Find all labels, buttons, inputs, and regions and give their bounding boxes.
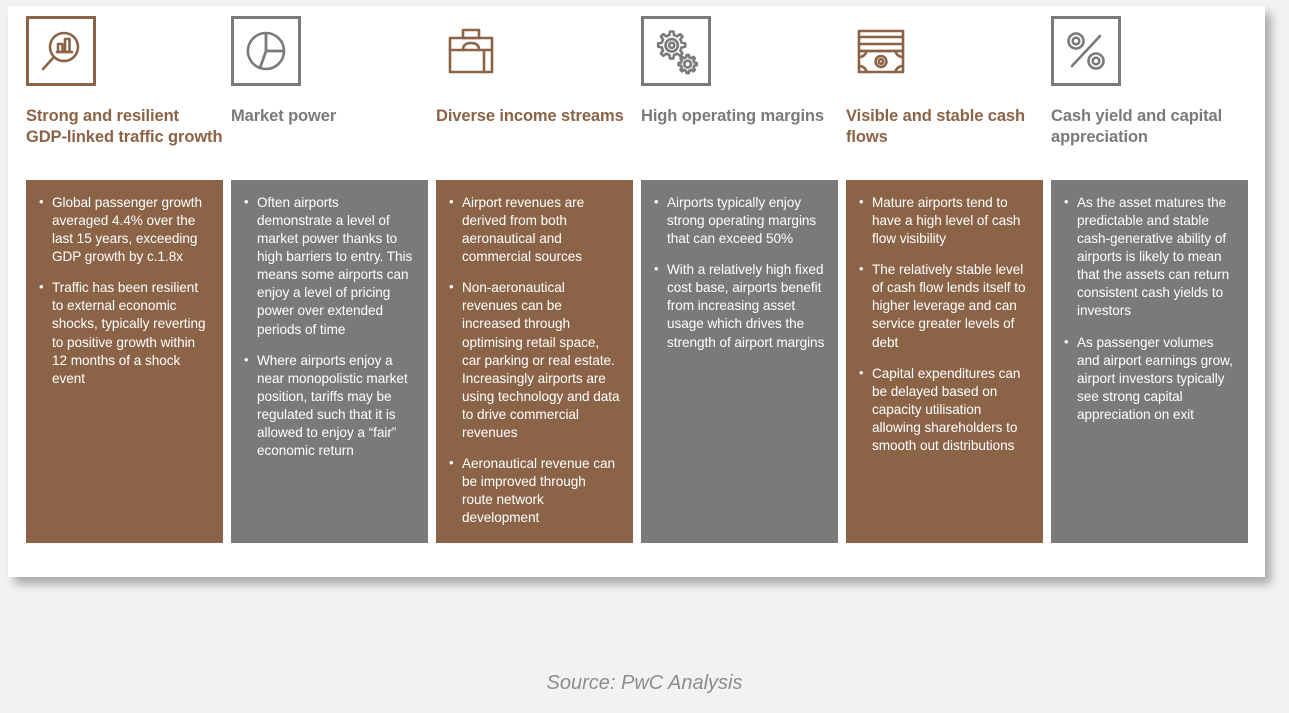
banknotes-icon [846, 16, 916, 86]
column-body: As the asset matures the predictable and… [1051, 180, 1248, 543]
bullet-item: Traffic has been resilient to external e… [39, 279, 210, 387]
bullet-item: Capital expenditures can be delayed base… [859, 365, 1030, 455]
bullet-list: Airport revenues are derived from both a… [449, 194, 620, 527]
bullet-item: Where airports enjoy a near monopolistic… [244, 352, 415, 460]
bullet-item: Aeronautical revenue can be improved thr… [449, 455, 620, 527]
magnifier-bar-chart-icon [26, 16, 96, 86]
icon-container [1051, 16, 1248, 102]
bullet-list: Mature airports tend to have a high leve… [859, 194, 1030, 455]
benefit-column: High operating marginsAirports typically… [637, 16, 842, 543]
source-caption: Source: PwC Analysis [0, 672, 1289, 695]
pie-chart-icon [231, 16, 301, 86]
bullet-item: Airport revenues are derived from both a… [449, 194, 620, 266]
benefit-column: Cash yield and capital appreciationAs th… [1047, 16, 1252, 543]
bullet-list: Often airports demonstrate a level of ma… [244, 194, 415, 460]
bullet-item: The relatively stable level of cash flow… [859, 261, 1030, 351]
benefit-column: Diverse income streamsAirport revenues a… [432, 16, 637, 543]
column-heading: Diverse income streams [436, 106, 633, 178]
bullet-list: Global passenger growth averaged 4.4% ov… [39, 194, 210, 388]
column-heading: High operating margins [641, 106, 838, 178]
column-heading: Cash yield and capital appreciation [1051, 106, 1248, 178]
bullet-list: Airports typically enjoy strong operatin… [654, 194, 825, 352]
gears-icon [641, 16, 711, 86]
benefit-column: Visible and stable cash flowsMature airp… [842, 16, 1047, 543]
bullet-item: As the asset matures the predictable and… [1064, 194, 1235, 321]
bullet-item: Mature airports tend to have a high leve… [859, 194, 1030, 248]
bullet-list: As the asset matures the predictable and… [1064, 194, 1235, 424]
icon-container [846, 16, 1043, 102]
column-body: Airport revenues are derived from both a… [436, 180, 633, 543]
bullet-item: Often airports demonstrate a level of ma… [244, 194, 415, 339]
benefit-column: Strong and resilient GDP-linked traffic … [22, 16, 227, 543]
bullet-item: Airports typically enjoy strong operatin… [654, 194, 825, 248]
column-body: Global passenger growth averaged 4.4% ov… [26, 180, 223, 543]
column-body: Often airports demonstrate a level of ma… [231, 180, 428, 543]
column-body: Mature airports tend to have a high leve… [846, 180, 1043, 543]
icon-container [436, 16, 633, 102]
bullet-item: With a relatively high fixed cost base, … [654, 261, 825, 351]
content-panel: Strong and resilient GDP-linked traffic … [8, 6, 1265, 577]
benefit-columns: Strong and resilient GDP-linked traffic … [22, 16, 1252, 543]
bullet-item: As passenger volumes and airport earning… [1064, 334, 1235, 424]
bullet-item: Global passenger growth averaged 4.4% ov… [39, 194, 210, 266]
icon-container [26, 16, 223, 102]
bullet-item: Non-aeronautical revenues can be increas… [449, 279, 620, 442]
icon-container [641, 16, 838, 102]
column-heading: Visible and stable cash flows [846, 106, 1043, 178]
percent-icon [1051, 16, 1121, 86]
column-body: Airports typically enjoy strong operatin… [641, 180, 838, 543]
icon-container [231, 16, 428, 102]
benefit-column: Market powerOften airports demonstrate a… [227, 16, 432, 543]
column-heading: Market power [231, 106, 428, 178]
column-heading: Strong and resilient GDP-linked traffic … [26, 106, 223, 178]
briefcase-icon [436, 16, 506, 86]
